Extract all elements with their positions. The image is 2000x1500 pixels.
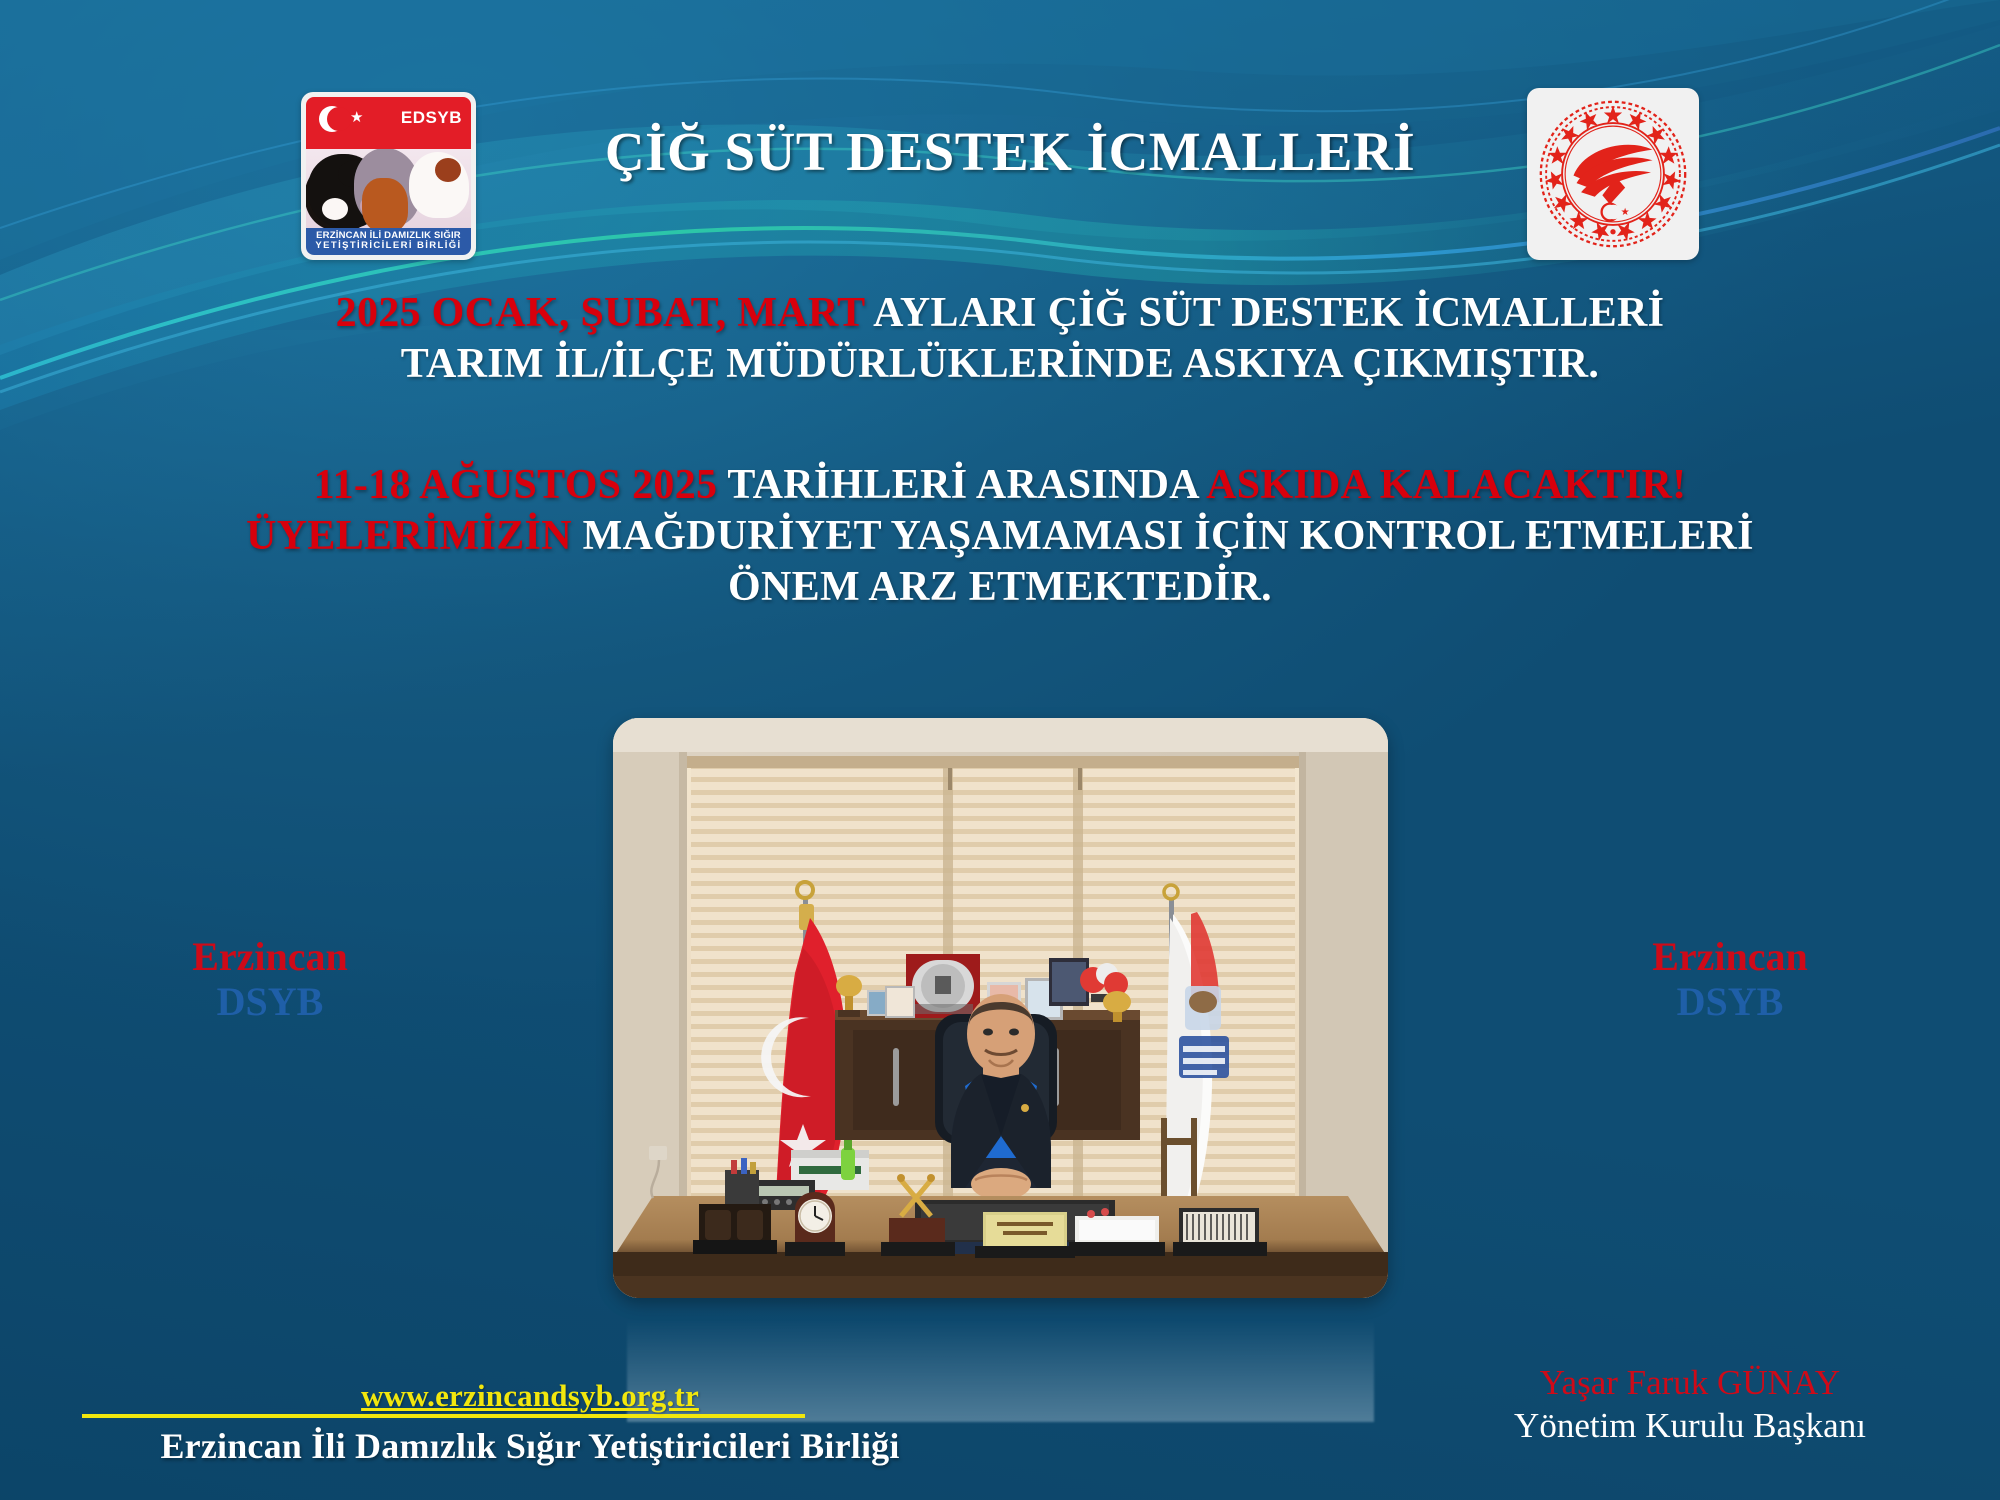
announcement-2-line-1: 11-18 AĞUSTOS 2025 TARİHLERİ ARASINDA AS…: [0, 460, 2000, 511]
announcement-2-line-2: ÜYELERİMİZİN MAĞDURİYET YAŞAMAMASI İÇİN …: [0, 511, 2000, 562]
cow-brown-icon: [362, 178, 408, 228]
svg-text:★: ★: [1621, 207, 1630, 218]
announcement-block-2: 11-18 AĞUSTOS 2025 TARİHLERİ ARASINDA AS…: [0, 460, 2000, 614]
edsyb-caption-line-2: YETİŞTİRİCİLERİ BİRLİĞİ: [306, 241, 471, 251]
watermark-left-city: Erzincan: [110, 935, 430, 980]
chairman-office-photo-wrapper: [613, 718, 1388, 1298]
page-title: ÇİĞ SÜT DESTEK İCMALLERİ: [480, 120, 1540, 183]
announcement-block-1: 2025 OCAK, ŞUBAT, MART AYLARI ÇİĞ SÜT DE…: [0, 288, 2000, 390]
announcement-2-line-3: ÖNEM ARZ ETMEKTEDİR.: [0, 562, 2000, 613]
announcement-dates-label: 11-18 AĞUSTOS 2025: [314, 462, 718, 508]
announcement-status-label: ASKIDA KALACAKTIR!: [1206, 462, 1686, 508]
website-underline: [82, 1414, 805, 1418]
chairman-office-photo: [613, 718, 1388, 1298]
edsyb-flag-banner: ★ EDSYB: [306, 97, 471, 149]
cow-white-icon: [409, 152, 469, 218]
website-link[interactable]: www.erzincandsyb.org.tr: [60, 1378, 1000, 1414]
watermark-right: Erzincan DSYB: [1570, 935, 1890, 1025]
footer-signature: Yaşar Faruk GÜNAY Yönetim Kurulu Başkanı: [1430, 1362, 1950, 1448]
announcement-1-line-1: 2025 OCAK, ŞUBAT, MART AYLARI ÇİĞ SÜT DE…: [0, 288, 2000, 339]
signer-title: Yönetim Kurulu Başkanı: [1430, 1404, 1950, 1448]
watermark-left: Erzincan DSYB: [110, 935, 430, 1025]
edsyb-abbr-label: EDSYB: [401, 108, 462, 128]
organization-name: Erzincan İli Damızlık Sığır Yetiştiricil…: [60, 1425, 1000, 1467]
signer-name: Yaşar Faruk GÜNAY: [1430, 1362, 1950, 1404]
cattle-illustration: [306, 149, 471, 227]
announcement-1-line-2: TARIM İL/İLÇE MÜDÜRLÜKLERİNDE ASKIYA ÇIK…: [0, 339, 2000, 390]
announcement-members-label: ÜYELERİMİZİN: [246, 513, 572, 559]
watermark-right-city: Erzincan: [1570, 935, 1890, 980]
watermark-right-abbr: DSYB: [1570, 980, 1890, 1025]
crescent-icon: [319, 106, 345, 132]
office-photo-illustration: [613, 718, 1388, 1298]
ministry-seal-icon: ★: [1537, 98, 1689, 250]
footer-left: www.erzincandsyb.org.tr Erzincan İli Dam…: [60, 1378, 1000, 1467]
announcement-2-line-1-mid: TARİHLERİ ARASINDA: [717, 462, 1206, 508]
edsyb-logo-caption: ERZİNCAN İLİ DAMIZLIK SIĞIR YETİŞTİRİCİL…: [306, 228, 471, 256]
announcement-period-label: 2025 OCAK, ŞUBAT, MART: [336, 290, 865, 336]
watermark-left-abbr: DSYB: [110, 980, 430, 1025]
announcement-1-line-1-rest: AYLARI ÇİĞ SÜT DESTEK İCMALLERİ: [865, 290, 1665, 336]
edsyb-logo: ★ EDSYB ERZİNCAN İLİ DAMIZLIK SIĞIR YETİ…: [301, 92, 476, 260]
ministry-of-agriculture-logo: ★: [1527, 88, 1699, 260]
announcement-2-line-2-rest: MAĞDURİYET YAŞAMAMASI İÇİN KONTROL ETMEL…: [572, 513, 1754, 559]
star-icon: ★: [350, 111, 363, 126]
